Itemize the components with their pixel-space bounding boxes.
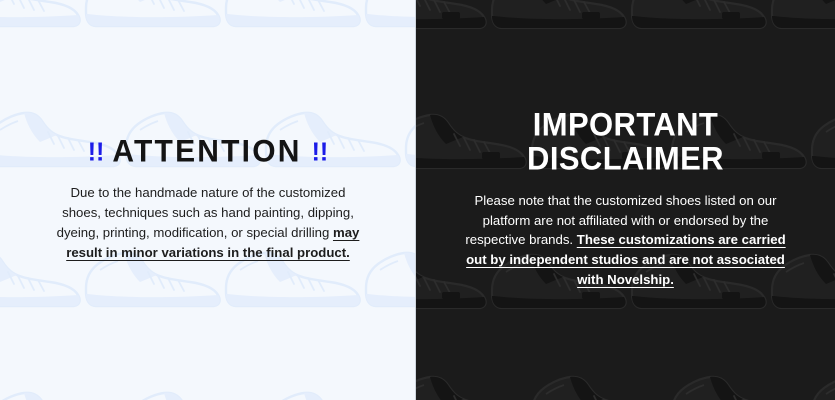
attention-heading-text: ATTENTION — [112, 134, 301, 168]
attention-heading: !!ATTENTION!! — [88, 136, 329, 167]
disclaimer-heading: IMPORTANT DISCLAIMER — [527, 108, 724, 176]
attention-body: Due to the handmade nature of the custom… — [52, 183, 364, 263]
double-exclamation-left-icon: !! — [88, 137, 105, 166]
disclaimer-panel: IMPORTANT DISCLAIMER Please note that th… — [416, 0, 835, 400]
attention-panel: !!ATTENTION!! Due to the handmade nature… — [0, 0, 416, 400]
customization-disclaimer-banner: !!ATTENTION!! Due to the handmade nature… — [0, 0, 835, 400]
disclaimer-content: IMPORTANT DISCLAIMER Please note that th… — [416, 0, 835, 400]
disclaimer-heading-line-1: IMPORTANT — [527, 108, 724, 142]
panel-divider — [415, 0, 416, 400]
attention-body-normal: Due to the handmade nature of the custom… — [57, 185, 354, 240]
double-exclamation-right-icon: !! — [312, 137, 329, 166]
attention-content: !!ATTENTION!! Due to the handmade nature… — [0, 0, 416, 400]
disclaimer-body: Please note that the customized shoes li… — [461, 191, 791, 290]
disclaimer-heading-line-2: DISCLAIMER — [527, 143, 724, 177]
